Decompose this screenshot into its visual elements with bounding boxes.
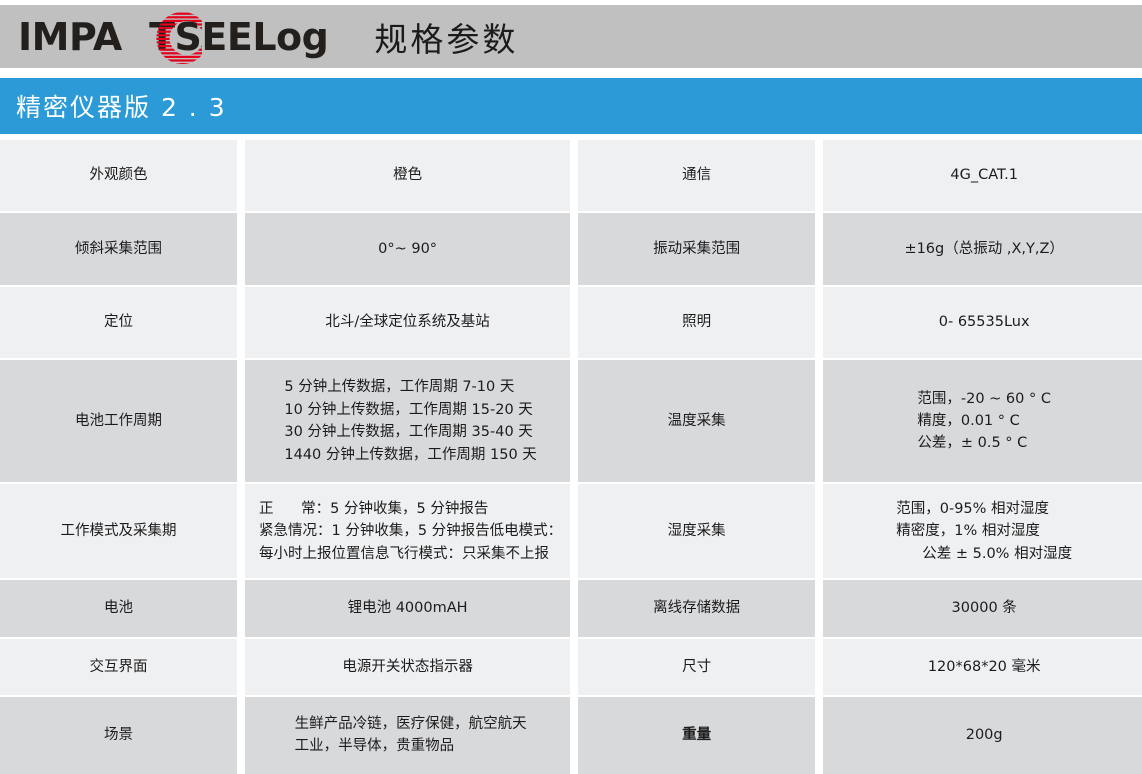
table-row: 倾斜采集范围0°~ 90° xyxy=(0,213,570,284)
table-row: 工作模式及采集期正 常：5 分钟收集，5 分钟报告紧急情况：1 分钟收集，5 分… xyxy=(0,484,570,578)
spec-label: 工作模式及采集期 xyxy=(0,484,237,578)
spec-value: 范围，0-95% 相对湿度精密度，1% 相对湿度公差 ± 5.0% 相对湿度 xyxy=(823,484,1142,578)
spec-sheet-page: IMPACTSEELog xyxy=(0,0,1142,774)
spec-value-line: 精密度，1% 相对湿度 xyxy=(896,520,1072,542)
spec-value-line: 生鲜产品冷链，医疗保健，航空航天 xyxy=(295,713,527,735)
table-row: 振动采集范围±16g（总振动 ,X,Y,Z） xyxy=(578,213,1142,284)
table-row: 尺寸120*68*20 毫米 xyxy=(578,639,1142,695)
version-banner-title: 精密仪器版 2 . 3 xyxy=(16,88,227,124)
table-row: 湿度采集范围，0-95% 相对湿度精密度，1% 相对湿度公差 ± 5.0% 相对… xyxy=(578,484,1142,578)
table-row: 重量200g xyxy=(578,697,1142,774)
spec-value: 范围，-20 ~ 60 ° C精度，0.01 ° C公差，± 0.5 ° C xyxy=(823,360,1142,482)
spec-value-line: 正 常：5 分钟收集，5 分钟报告 xyxy=(259,498,562,520)
spec-value-line: 30 分钟上传数据，工作周期 35-40 天 xyxy=(284,421,536,443)
table-row: 离线存储数据30000 条 xyxy=(578,580,1142,636)
spec-value-line: 公差 ± 5.0% 相对湿度 xyxy=(896,543,1072,565)
spec-value-line: 紧急情况：1 分钟收集，5 分钟报告低电模式： xyxy=(259,520,562,542)
spec-value: 电源开关状态指示器 xyxy=(245,639,570,695)
logo-wordmark: IMPACTSEELog xyxy=(18,18,328,56)
spec-column-right: 通信4G_CAT.1振动采集范围±16g（总振动 ,X,Y,Z）照明0- 655… xyxy=(578,140,1142,774)
spec-label: 场景 xyxy=(0,697,237,774)
version-banner: 精密仪器版 2 . 3 xyxy=(0,78,1142,134)
spec-label: 离线存储数据 xyxy=(578,580,815,636)
table-row: 外观颜色橙色 xyxy=(0,140,570,211)
brand-logo: IMPACTSEELog xyxy=(18,13,328,61)
spec-label: 电池 xyxy=(0,580,237,636)
table-row: 交互界面电源开关状态指示器 xyxy=(0,639,570,695)
spec-value: 锂电池 4000mAH xyxy=(245,580,570,636)
page-title: 规格参数 xyxy=(374,13,518,61)
spec-value-line: 10 分钟上传数据，工作周期 15-20 天 xyxy=(284,399,536,421)
spec-value: 4G_CAT.1 xyxy=(823,140,1142,211)
spec-label: 电池工作周期 xyxy=(0,360,237,482)
spec-value: 0- 65535Lux xyxy=(823,287,1142,358)
logo-text-tsee: TSEE xyxy=(149,15,252,59)
spec-label: 湿度采集 xyxy=(578,484,815,578)
header-bar: IMPACTSEELog xyxy=(0,5,1142,68)
table-row: 电池工作周期5 分钟上传数据，工作周期 7-10 天10 分钟上传数据，工作周期… xyxy=(0,360,570,482)
spec-value: 200g xyxy=(823,697,1142,774)
logo-text-log: Log xyxy=(252,15,328,59)
table-row: 电池锂电池 4000mAH xyxy=(0,580,570,636)
spec-value-line: 范围，0-95% 相对湿度 xyxy=(896,498,1072,520)
spec-column-left: 外观颜色橙色倾斜采集范围0°~ 90°定位北斗/全球定位系统及基站电池工作周期5… xyxy=(0,140,570,774)
spec-label: 交互界面 xyxy=(0,639,237,695)
spec-value: 5 分钟上传数据，工作周期 7-10 天10 分钟上传数据，工作周期 15-20… xyxy=(245,360,570,482)
table-row: 照明0- 65535Lux xyxy=(578,287,1142,358)
table-row: 通信4G_CAT.1 xyxy=(578,140,1142,211)
spec-value-line: 5 分钟上传数据，工作周期 7-10 天 xyxy=(284,376,536,398)
spec-value-line: 公差，± 0.5 ° C xyxy=(917,432,1051,454)
spec-label: 倾斜采集范围 xyxy=(0,213,237,284)
spec-value: ±16g（总振动 ,X,Y,Z） xyxy=(823,213,1142,284)
spec-label: 尺寸 xyxy=(578,639,815,695)
spec-value: 生鲜产品冷链，医疗保健，航空航天工业，半导体，贵重物品 xyxy=(245,697,570,774)
spec-label: 定位 xyxy=(0,287,237,358)
spec-label: 温度采集 xyxy=(578,360,815,482)
spec-value-line: 范围，-20 ~ 60 ° C xyxy=(917,388,1051,410)
spec-value: 正 常：5 分钟收集，5 分钟报告紧急情况：1 分钟收集，5 分钟报告低电模式：… xyxy=(245,484,570,578)
spec-value: 120*68*20 毫米 xyxy=(823,639,1142,695)
spec-value: 北斗/全球定位系统及基站 xyxy=(245,287,570,358)
spec-label: 重量 xyxy=(578,697,815,774)
spec-value-line: 每小时上报位置信息飞行模式：只采集不上报 xyxy=(259,543,562,565)
spec-value: 0°~ 90° xyxy=(245,213,570,284)
spec-label: 通信 xyxy=(578,140,815,211)
spec-value-line: 工业，半导体，贵重物品 xyxy=(295,735,527,757)
spec-value: 30000 条 xyxy=(823,580,1142,636)
spec-value: 橙色 xyxy=(245,140,570,211)
table-row: 温度采集范围，-20 ~ 60 ° C精度，0.01 ° C公差，± 0.5 °… xyxy=(578,360,1142,482)
logo-text-impa: IMPA xyxy=(18,15,122,59)
table-row: 定位北斗/全球定位系统及基站 xyxy=(0,287,570,358)
spec-label: 振动采集范围 xyxy=(578,213,815,284)
spec-label: 外观颜色 xyxy=(0,140,237,211)
spec-value-line: 精度，0.01 ° C xyxy=(917,410,1051,432)
table-row: 场景生鲜产品冷链，医疗保健，航空航天工业，半导体，贵重物品 xyxy=(0,697,570,774)
spec-value-line: 1440 分钟上传数据，工作周期 150 天 xyxy=(284,444,536,466)
spec-label: 照明 xyxy=(578,287,815,358)
spec-table: 外观颜色橙色倾斜采集范围0°~ 90°定位北斗/全球定位系统及基站电池工作周期5… xyxy=(0,140,1142,774)
